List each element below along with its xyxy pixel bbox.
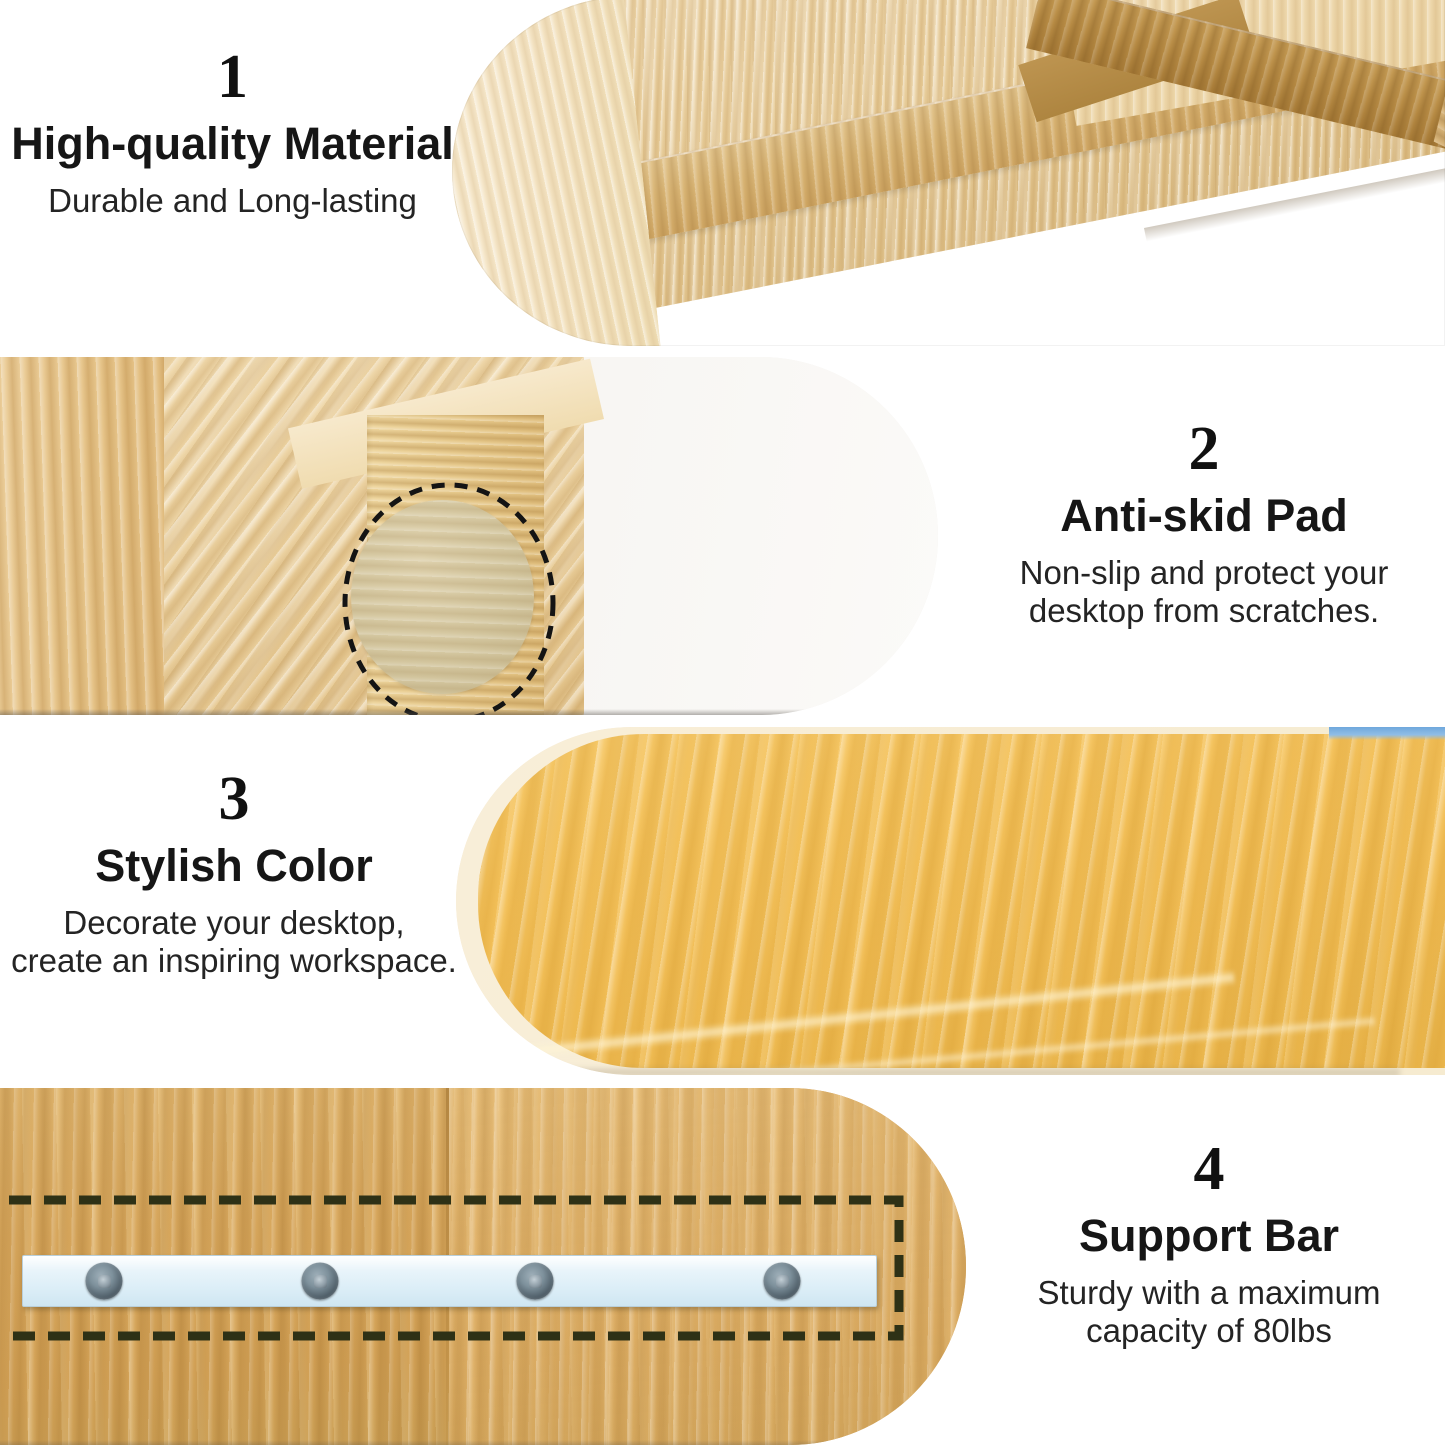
feature-description-4-line-1: Sturdy with a maximum xyxy=(975,1274,1443,1312)
feature-text-block-3: 3 Stylish Color Decorate your desktop, c… xyxy=(0,768,468,980)
feature-description-4-line-2: capacity of 80lbs xyxy=(975,1312,1443,1350)
support-bar-screw xyxy=(517,1263,554,1300)
support-bar-screw xyxy=(86,1263,123,1300)
panel-bottom-shadow xyxy=(490,1069,1400,1075)
feature-number-1: 1 xyxy=(0,46,465,108)
feature-description-4: Sturdy with a maximum capacity of 80lbs xyxy=(975,1274,1443,1351)
support-bar-screw xyxy=(302,1263,339,1300)
feature-image-high-quality-material xyxy=(452,0,1445,346)
feature-number-4: 4 xyxy=(975,1138,1443,1200)
blue-accent-sliver xyxy=(1329,727,1445,740)
feature-number-3: 3 xyxy=(0,768,468,830)
feature-description-1: Durable and Long-lasting xyxy=(0,182,465,220)
feature-description-2-line-1: Non-slip and protect your xyxy=(965,554,1443,592)
feature-text-block-4: 4 Support Bar Sturdy with a maximum capa… xyxy=(975,1138,1443,1350)
feature-title-2: Anti-skid Pad xyxy=(965,492,1443,540)
panel-inner-shadow xyxy=(452,0,1445,346)
feature-image-stylish-color xyxy=(456,727,1445,1075)
support-bar-screw xyxy=(764,1263,801,1300)
feature-description-2: Non-slip and protect your desktop from s… xyxy=(965,554,1443,631)
feature-text-block-2: 2 Anti-skid Pad Non-slip and protect you… xyxy=(965,418,1443,630)
feature-title-3: Stylish Color xyxy=(0,842,468,890)
feature-description-3: Decorate your desktop, create an inspiri… xyxy=(0,904,468,981)
feature-description-2-line-2: desktop from scratches. xyxy=(965,592,1443,630)
feature-title-1: High-quality Material xyxy=(0,120,465,168)
support-bar-body xyxy=(22,1255,877,1307)
feature-text-block-1: 1 High-quality Material Durable and Long… xyxy=(0,46,465,220)
feature-number-2: 2 xyxy=(965,418,1443,480)
feature-image-anti-skid-pad xyxy=(0,357,938,715)
panel-bottom-shadow xyxy=(0,709,938,715)
panel-bottom-shadow xyxy=(0,1440,966,1445)
feature-description-3-line-2: create an inspiring workspace. xyxy=(0,942,468,980)
metal-support-bar xyxy=(22,1255,877,1307)
product-feature-infographic: 1 High-quality Material Durable and Long… xyxy=(0,0,1445,1445)
amber-wood-surface xyxy=(478,734,1445,1068)
wood-slab-left xyxy=(0,357,172,715)
dashed-ellipse-annotation xyxy=(334,477,564,715)
feature-description-3-line-1: Decorate your desktop, xyxy=(0,904,468,942)
feature-title-4: Support Bar xyxy=(975,1212,1443,1260)
